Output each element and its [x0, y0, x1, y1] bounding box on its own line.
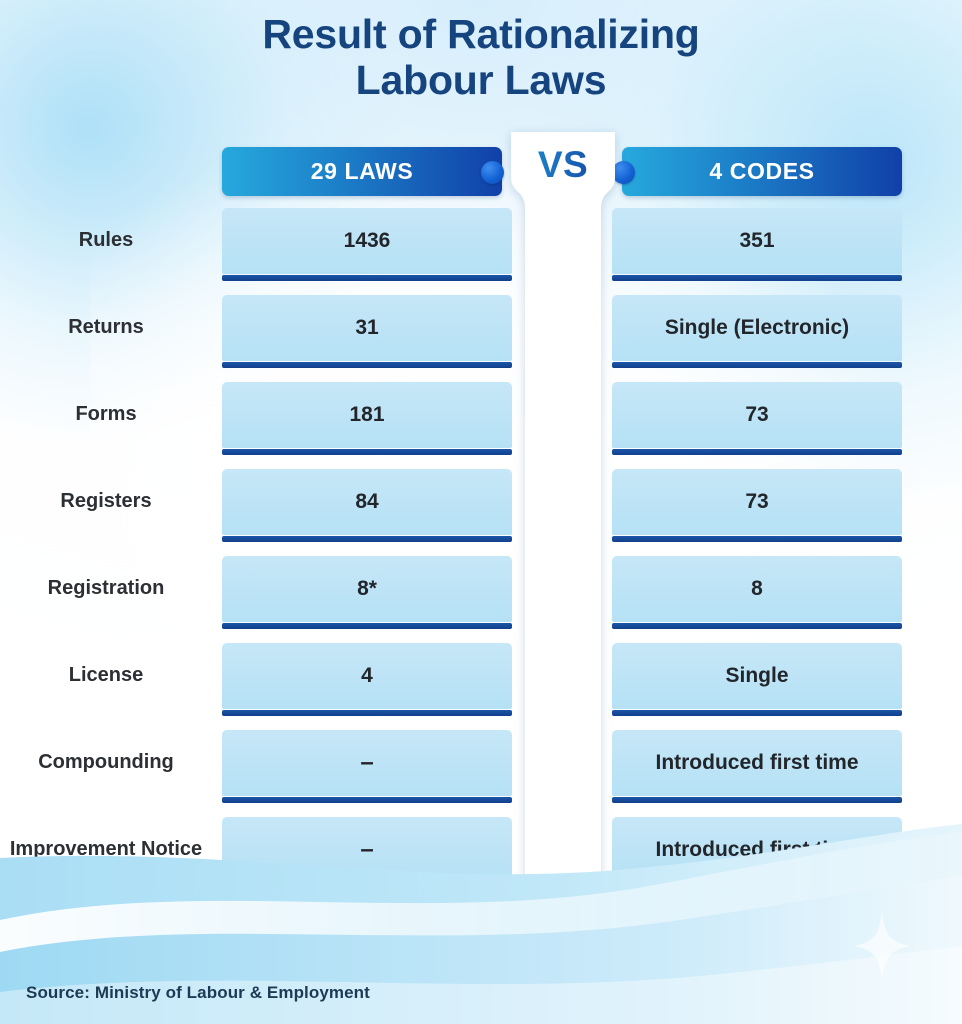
vs-label: VS	[508, 144, 618, 186]
cell-left: 181	[222, 382, 512, 448]
cell-right: Introduced first time	[612, 730, 902, 796]
cell-right-value: Single	[612, 643, 902, 709]
cell-left-value: 1436	[222, 208, 512, 274]
row-label: License	[0, 643, 212, 709]
connector-dot-left-icon	[481, 161, 504, 184]
infographic-canvas: Result of Rationalizing Labour Laws 29 L…	[0, 0, 962, 1024]
table-row: Registers 84 73	[0, 469, 962, 556]
cell-right: 8	[612, 556, 902, 622]
cell-left-value: 84	[222, 469, 512, 535]
cell-left: 31	[222, 295, 512, 361]
cell-left: 84	[222, 469, 512, 535]
cell-left: 8*	[222, 556, 512, 622]
cell-right: Single	[612, 643, 902, 709]
column-header-left: 29 LAWS	[222, 147, 502, 196]
column-header-right-label: 4 CODES	[709, 158, 814, 185]
cell-right: 351	[612, 208, 902, 274]
row-label: Returns	[0, 295, 212, 361]
comparison-table: Rules 1436 351 Returns 31 Single (Electr…	[0, 208, 962, 904]
page-title-line-2: Labour Laws	[0, 58, 962, 104]
cell-left-value: 8*	[222, 556, 512, 622]
cell-left-value: 181	[222, 382, 512, 448]
cell-right: 73	[612, 382, 902, 448]
row-label: Rules	[0, 208, 212, 274]
sparkle-icon	[854, 910, 910, 982]
table-row: Forms 181 73	[0, 382, 962, 469]
cell-right-value: 73	[612, 382, 902, 448]
cell-left: –	[222, 730, 512, 796]
cell-right-value: 351	[612, 208, 902, 274]
cell-left-value: 31	[222, 295, 512, 361]
row-label: Registration	[0, 556, 212, 622]
cell-right-value: 73	[612, 469, 902, 535]
source-note: Source: Ministry of Labour & Employment	[26, 983, 370, 1003]
row-label: Compounding	[0, 730, 212, 796]
cell-right: 73	[612, 469, 902, 535]
cell-right-value: Introduced first time	[612, 730, 902, 796]
table-row: Registration 8* 8	[0, 556, 962, 643]
table-row: Rules 1436 351	[0, 208, 962, 295]
row-label: Forms	[0, 382, 212, 448]
cell-left: 1436	[222, 208, 512, 274]
table-row: Returns 31 Single (Electronic)	[0, 295, 962, 382]
table-row: Compounding – Introduced first time	[0, 730, 962, 817]
cell-left-value: 4	[222, 643, 512, 709]
cell-left-value: –	[222, 730, 512, 796]
column-header-left-label: 29 LAWS	[311, 158, 414, 185]
cell-right-value: Single (Electronic)	[612, 295, 902, 361]
cell-left: 4	[222, 643, 512, 709]
page-title-line-1: Result of Rationalizing	[0, 12, 962, 58]
cell-right: Single (Electronic)	[612, 295, 902, 361]
row-label: Registers	[0, 469, 212, 535]
cell-right-value: 8	[612, 556, 902, 622]
column-header-right: 4 CODES	[622, 147, 902, 196]
page-title: Result of Rationalizing Labour Laws	[0, 12, 962, 104]
table-row: License 4 Single	[0, 643, 962, 730]
